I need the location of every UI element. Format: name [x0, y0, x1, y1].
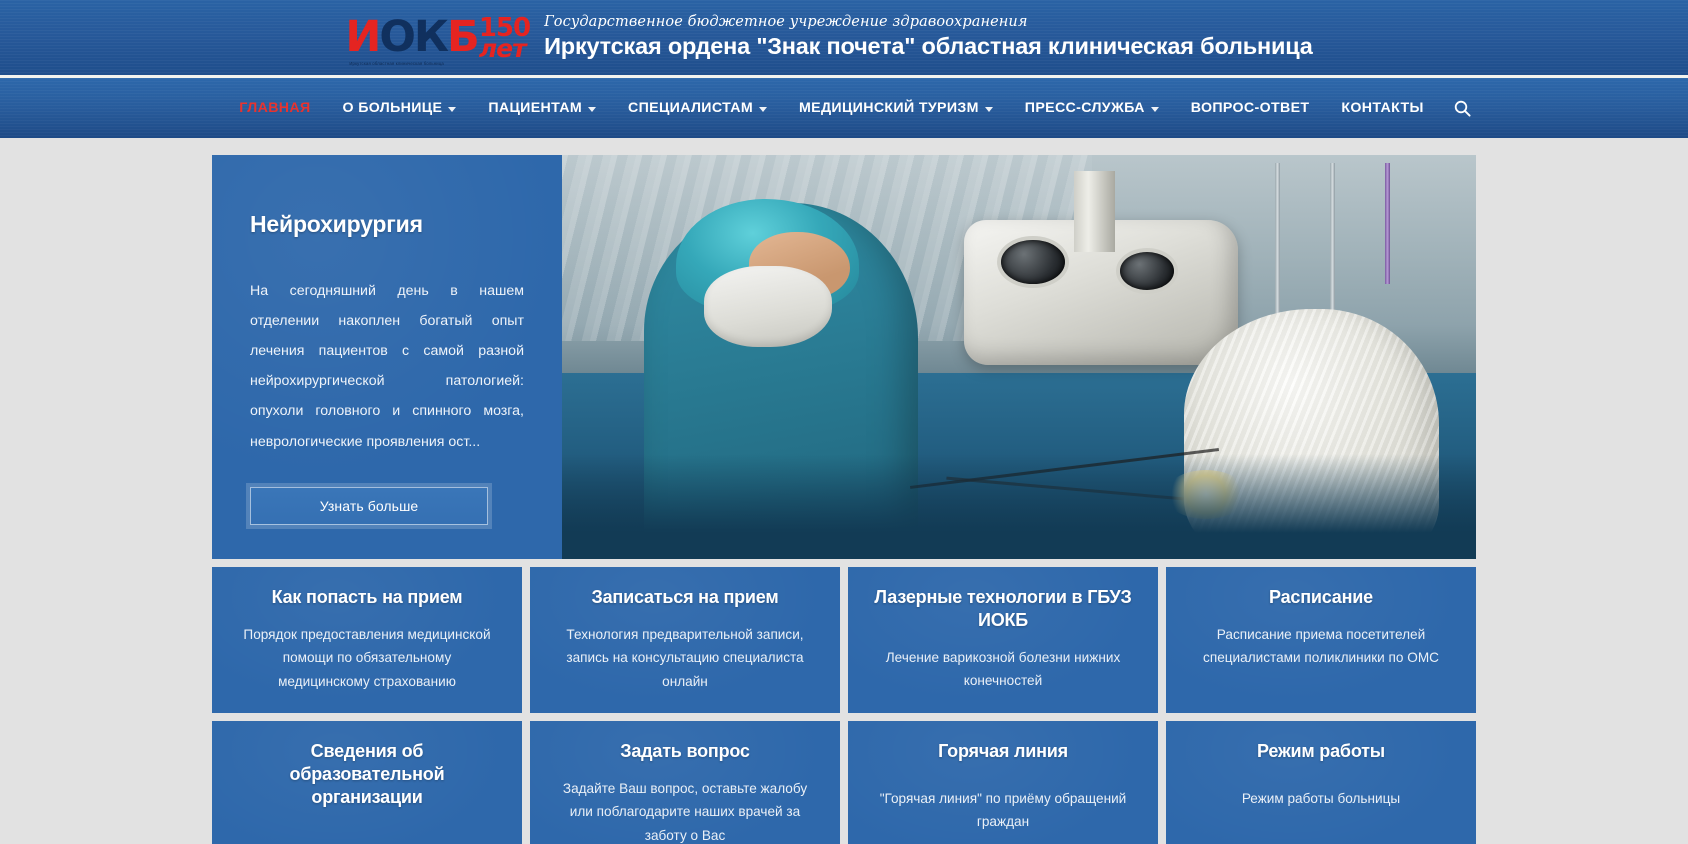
hero-learn-more-button[interactable]: Узнать больше — [250, 487, 488, 525]
nav-label: СПЕЦИАЛИСТАМ — [628, 100, 753, 116]
page-body: Нейрохирургия На сегодняшний день в наше… — [0, 138, 1688, 844]
card-zapisatsya-na-priem[interactable]: Записаться на прием Технология предварит… — [530, 567, 840, 713]
surgery-scene-illustration — [562, 155, 1476, 559]
chevron-down-icon — [759, 107, 767, 112]
nav-label: ВОПРОС-ОТВЕТ — [1191, 100, 1310, 116]
header-titles: Государственное бюджетное учреждение здр… — [544, 13, 1313, 62]
card-title: Как попасть на прием — [236, 586, 498, 609]
hero-slider: Нейрохирургия На сегодняшний день в наше… — [212, 155, 1476, 559]
card-description: Режим работы больницы — [1190, 787, 1452, 810]
header-title: Иркутская ордена "Знак почета" областная… — [544, 32, 1313, 61]
card-description: Задайте Ваш вопрос, оставьте жалобу или … — [554, 777, 816, 844]
hero-text-panel: Нейрохирургия На сегодняшний день в наше… — [212, 155, 562, 559]
logo-letters-ok: ОК — [379, 16, 447, 59]
logo-mark: ИОКБ Иркутская областная клиническая бол… — [345, 16, 477, 59]
site-header: ИОКБ Иркутская областная клиническая бол… — [0, 0, 1688, 78]
quick-links-row-2: Сведения об образовательной организации … — [212, 721, 1476, 844]
logo-letter-b: Б — [447, 16, 478, 59]
nav-label: КОНТАКТЫ — [1341, 100, 1423, 116]
search-icon — [1454, 100, 1471, 117]
chevron-down-icon — [588, 107, 596, 112]
anniversary-badge: 150 лет — [479, 18, 530, 60]
chevron-down-icon — [985, 107, 993, 112]
nav-label: ГЛАВНАЯ — [239, 100, 310, 116]
nav-item-specialistam[interactable]: СПЕЦИАЛИСТАМ — [612, 94, 783, 122]
card-description: Расписание приема посетителей специалист… — [1190, 623, 1452, 670]
card-description: Лечение варикозной болезни нижних конечн… — [872, 646, 1134, 693]
nav-item-glavnaya[interactable]: ГЛАВНАЯ — [223, 94, 326, 122]
card-zadat-vopros[interactable]: Задать вопрос Задайте Ваш вопрос, оставь… — [530, 721, 840, 844]
anniversary-word: лет — [479, 39, 526, 60]
hero-description: На сегодняшний день в нашем отделении на… — [250, 276, 524, 457]
logo-caption: Иркутская областная клиническая больница — [349, 62, 444, 66]
card-description: Технология предварительной записи, запис… — [554, 623, 816, 693]
header-subtitle: Государственное бюджетное учреждение здр… — [544, 13, 1313, 31]
quick-links-grid: Как попасть на прием Порядок предоставле… — [212, 567, 1476, 844]
card-title: Горячая линия — [872, 740, 1134, 763]
card-lazernye-tehnologii[interactable]: Лазерные технологии в ГБУЗ ИОКБ Лечение … — [848, 567, 1158, 713]
quick-links-row-1: Как попасть на прием Порядок предоставле… — [212, 567, 1476, 713]
card-kak-popast-na-priem[interactable]: Как попасть на прием Порядок предоставле… — [212, 567, 522, 713]
main-navigation: ГЛАВНАЯ О БОЛЬНИЦЕ ПАЦИЕНТАМ СПЕЦИАЛИСТА… — [0, 78, 1688, 138]
card-title: Записаться на прием — [554, 586, 816, 609]
card-title: Лазерные технологии в ГБУЗ ИОКБ — [872, 586, 1134, 632]
card-title: Расписание — [1190, 586, 1452, 609]
nav-label: О БОЛЬНИЦЕ — [343, 100, 443, 116]
nav-item-o-bolnice[interactable]: О БОЛЬНИЦЕ — [327, 94, 473, 122]
nav-label: ПАЦИЕНТАМ — [488, 100, 582, 116]
hero-title: Нейрохирургия — [250, 211, 524, 238]
search-button[interactable] — [1440, 94, 1485, 123]
card-title: Сведения об образовательной организации — [236, 740, 498, 809]
card-rezhim-raboty[interactable]: Режим работы Режим работы больницы — [1166, 721, 1476, 844]
card-title: Задать вопрос — [554, 740, 816, 763]
content-container: Нейрохирургия На сегодняшний день в наше… — [212, 155, 1476, 844]
nav-item-medicinskiy-turizm[interactable]: МЕДИЦИНСКИЙ ТУРИЗМ — [783, 94, 1009, 122]
card-title: Режим работы — [1190, 740, 1452, 763]
card-goryachaya-liniya[interactable]: Горячая линия "Горячая линия" по приёму … — [848, 721, 1158, 844]
chevron-down-icon — [448, 107, 456, 112]
nav-item-press-sluzhba[interactable]: ПРЕСС-СЛУЖБА — [1009, 94, 1175, 122]
nav-item-kontakty[interactable]: КОНТАКТЫ — [1325, 94, 1439, 122]
site-logo[interactable]: ИОКБ Иркутская областная клиническая бол… — [345, 16, 530, 60]
card-description: Порядок предоставления медицинской помощ… — [236, 623, 498, 693]
hero-image — [562, 155, 1476, 559]
nav-item-pacientam[interactable]: ПАЦИЕНТАМ — [472, 94, 612, 122]
card-svedeniya-ob-obrazovatelnoy-organizacii[interactable]: Сведения об образовательной организации — [212, 721, 522, 844]
chevron-down-icon — [1151, 107, 1159, 112]
card-raspisanie[interactable]: Расписание Расписание приема посетителей… — [1166, 567, 1476, 713]
card-description: "Горячая линия" по приёму обращений граж… — [872, 787, 1134, 834]
nav-label: ПРЕСС-СЛУЖБА — [1025, 100, 1145, 116]
nav-item-vopros-otvet[interactable]: ВОПРОС-ОТВЕТ — [1175, 94, 1326, 122]
logo-letter-i: И — [345, 16, 379, 59]
nav-label: МЕДИЦИНСКИЙ ТУРИЗМ — [799, 100, 979, 116]
